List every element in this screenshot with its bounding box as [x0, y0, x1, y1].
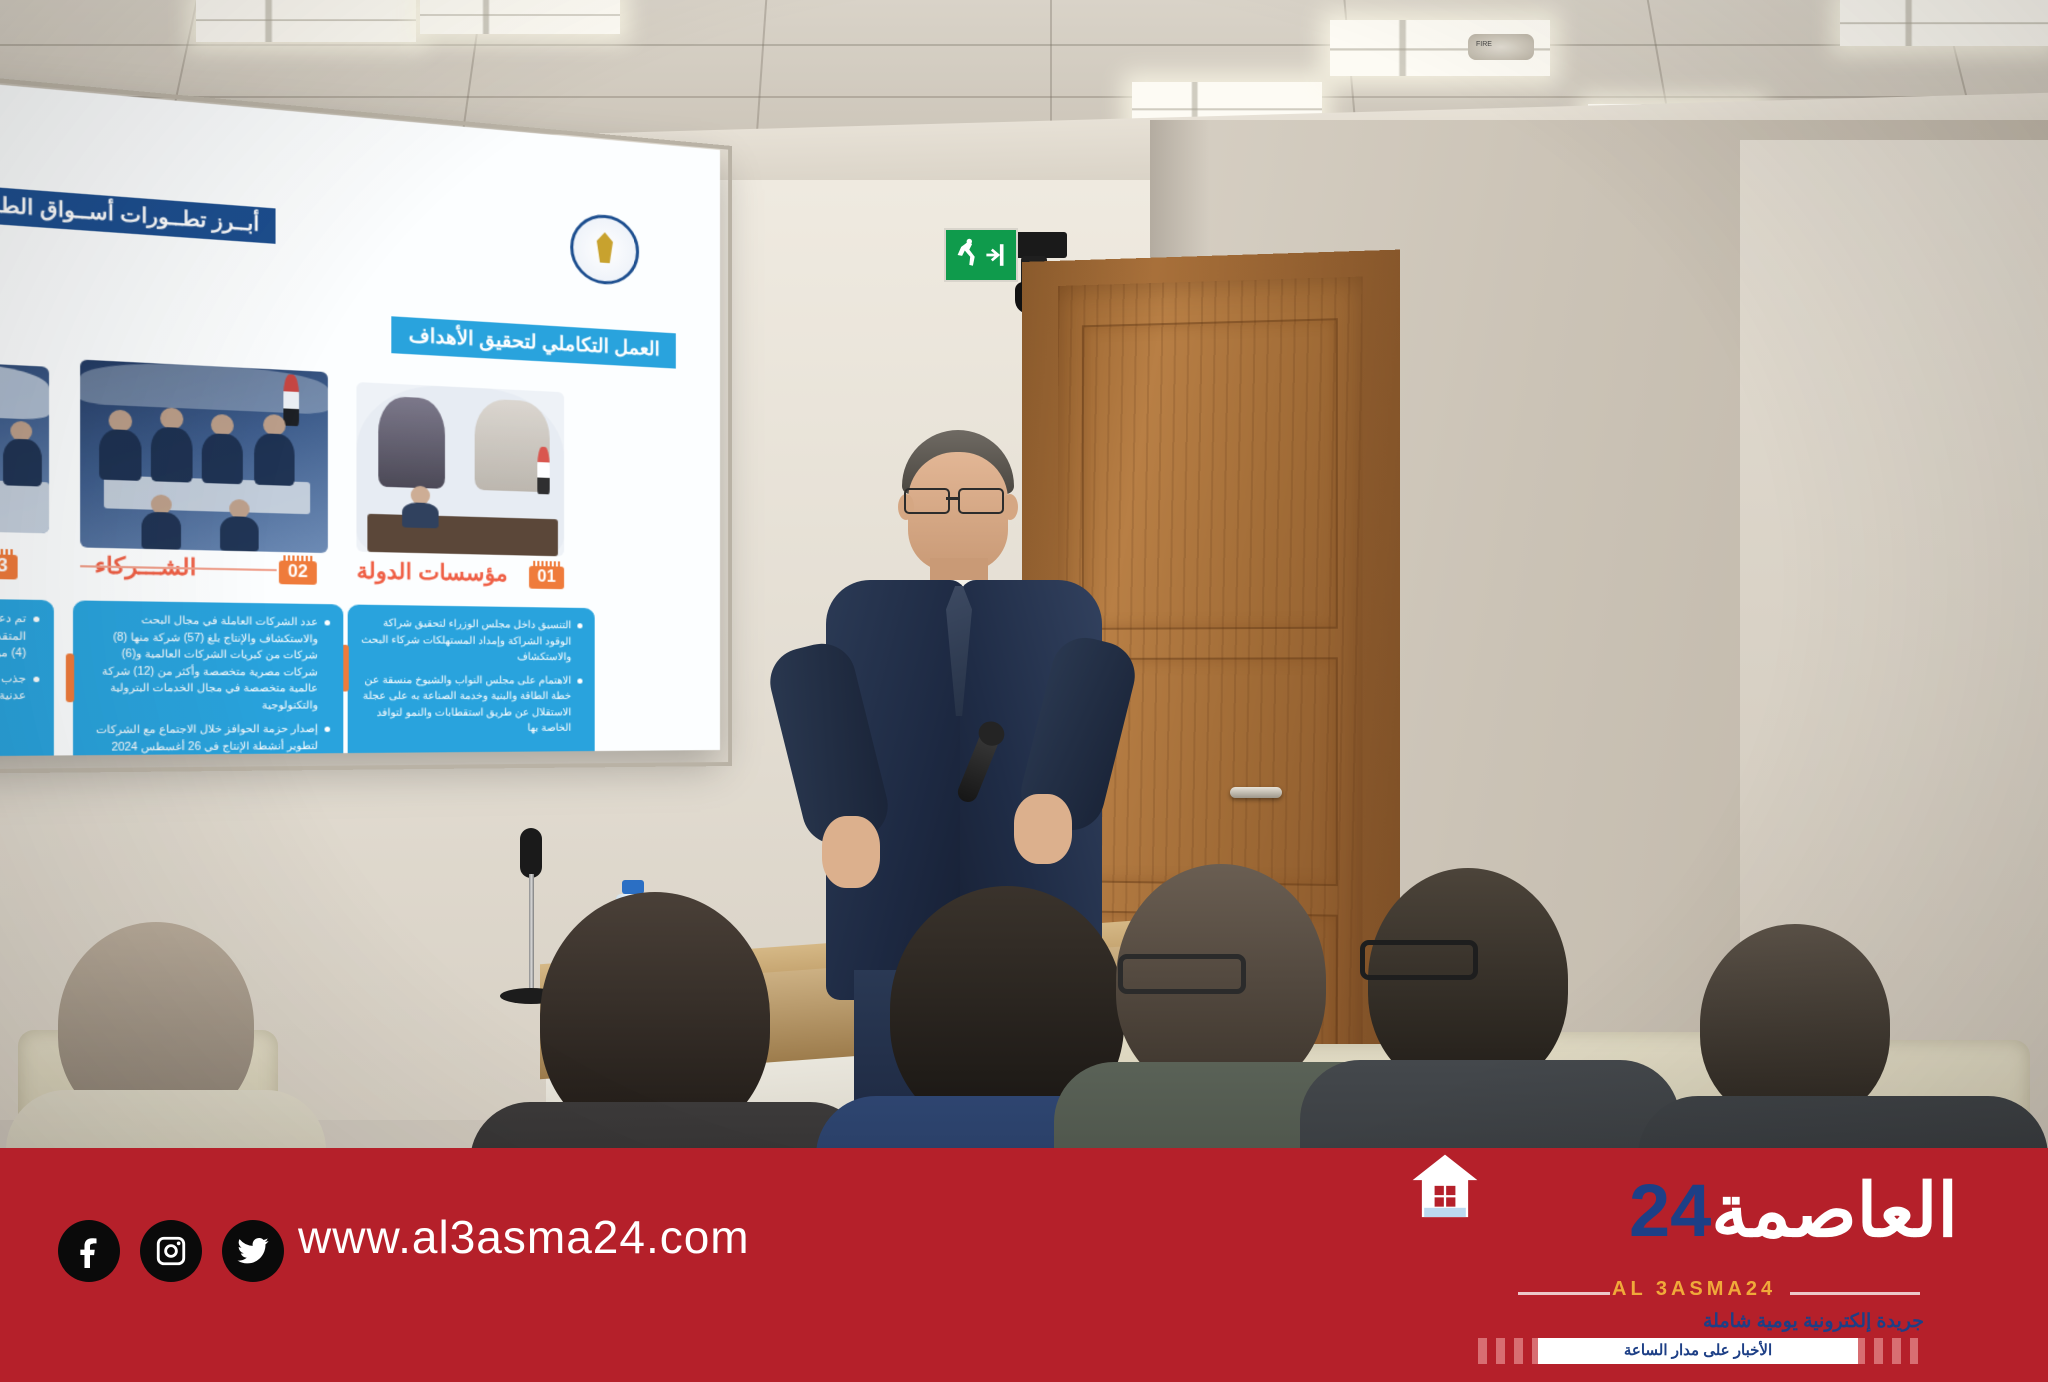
logo-arabic-text: العاصمة: [1711, 1169, 1958, 1252]
watermark-bar: www.al3asma24.com العاصمة24: [0, 1148, 2048, 1382]
logo-strip-text: الأخبار على مدار الساعة: [1538, 1338, 1858, 1364]
instagram-icon[interactable]: [140, 1220, 202, 1282]
projection-screen-frame: [0, 63, 732, 775]
twitter-icon[interactable]: [222, 1220, 284, 1282]
speaker-hand-right: [1014, 794, 1072, 864]
table-microphone: [520, 828, 542, 878]
logo-number: 24: [1629, 1169, 1711, 1252]
fire-detector-icon: [1468, 34, 1534, 60]
logo-english-text: AL 3ASMA24: [1612, 1278, 1776, 1301]
logo-rule-left: [1518, 1292, 1610, 1295]
facebook-icon[interactable]: [58, 1220, 120, 1282]
door-handle[interactable]: [1230, 787, 1282, 798]
house-icon: [1408, 1150, 1482, 1224]
logo-strip: الأخبار على مدار الساعة: [1478, 1338, 1918, 1364]
speaker-hand-left: [822, 816, 880, 888]
logo-arabic-wordmark: العاصمة24: [1629, 1168, 1958, 1254]
logo-tagline: جريدة إلكترونية يومية شاملة: [1703, 1310, 1924, 1333]
screenshot-root: أبــرز تطــورات أســواق الطاقــة عالميًـ…: [0, 0, 2048, 1382]
logo-rule-right: [1790, 1292, 1920, 1295]
eyeglasses-icon: [904, 488, 1014, 510]
site-logo[interactable]: العاصمة24 AL 3ASMA24 جريدة إلكترونية يوم…: [1398, 1142, 1958, 1362]
audience-eyeglasses-icon-2: [1360, 940, 1478, 980]
audience-eyeglasses-icon: [1118, 954, 1246, 994]
website-url[interactable]: www.al3asma24.com: [298, 1210, 750, 1264]
emergency-exit-sign: [944, 228, 1018, 282]
